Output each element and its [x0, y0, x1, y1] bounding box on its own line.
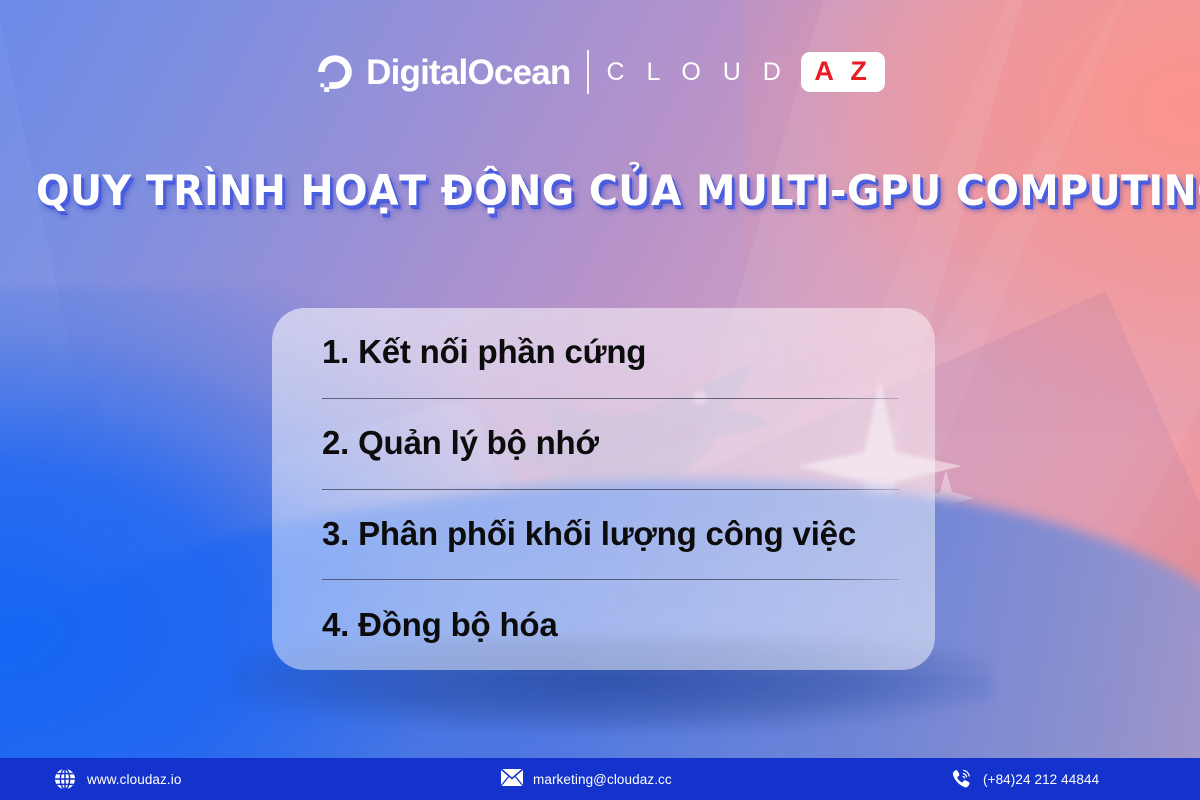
brand-logo-row: DigitalOcean C L O U D A Z: [0, 44, 1200, 100]
digitalocean-brand-name: DigitalOcean: [366, 55, 570, 90]
phone-call-icon: [950, 768, 972, 790]
step-label: 2. Quản lý bộ nhớ: [322, 424, 599, 463]
globe-icon: [54, 768, 76, 790]
list-item: 1. Kết nối phần cứng: [300, 308, 907, 398]
footer-website-text: www.cloudaz.io: [87, 772, 181, 787]
list-item: 3. Phân phối khối lượng công việc: [300, 490, 907, 580]
envelope-icon: [500, 768, 522, 790]
az-badge: A Z: [801, 52, 885, 91]
footer-bar: www.cloudaz.io marketing@cloudaz.cc (+84…: [0, 758, 1200, 800]
logo-separator: [587, 50, 589, 94]
step-label: 3. Phân phối khối lượng công việc: [322, 515, 856, 554]
footer-email-text: marketing@cloudaz.cc: [533, 772, 672, 787]
step-label: 1. Kết nối phần cứng: [322, 333, 646, 372]
cloud-word: C L O U D: [606, 60, 788, 85]
page-title: QUY TRÌNH HOẠT ĐỘNG CỦA MULTI-GPU COMPUT…: [36, 162, 1164, 220]
list-item: 4. Đồng bộ hóa: [300, 580, 907, 670]
step-label: 4. Đồng bộ hóa: [322, 606, 558, 645]
footer-website[interactable]: www.cloudaz.io: [0, 768, 480, 790]
digitalocean-logo-icon: [315, 52, 355, 92]
footer-phone-text: (+84)24 212 44844: [983, 772, 1099, 787]
steps-card: 1. Kết nối phần cứng 2. Quản lý bộ nhớ 3…: [272, 308, 935, 670]
list-item: 2. Quản lý bộ nhớ: [300, 399, 907, 489]
footer-phone[interactable]: (+84)24 212 44844: [936, 768, 1200, 790]
footer-email[interactable]: marketing@cloudaz.cc: [480, 768, 936, 790]
